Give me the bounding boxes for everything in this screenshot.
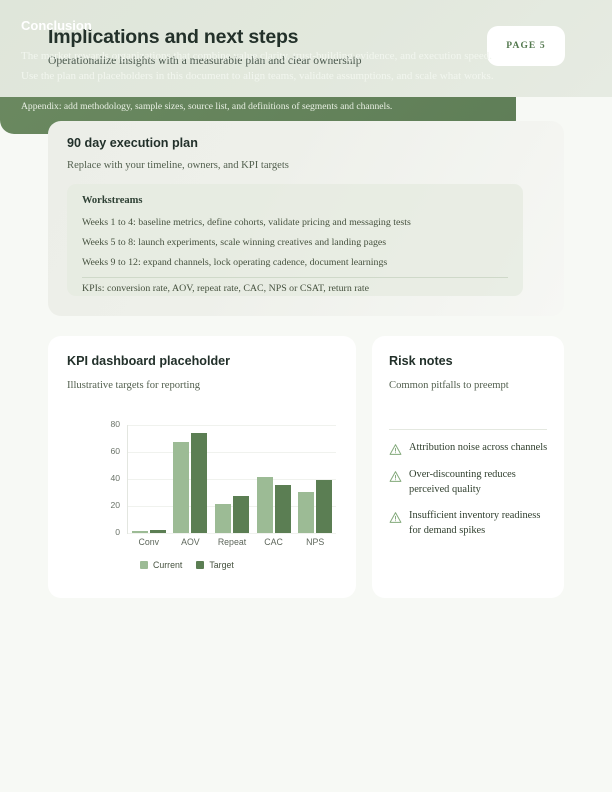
y-axis-tick-label: 60 — [80, 446, 120, 456]
y-axis-tick-label: 0 — [80, 527, 120, 537]
chart-bar — [173, 442, 189, 533]
risk-note-item: Insufficient inventory readiness for dem… — [389, 509, 551, 538]
warning-triangle-icon — [389, 443, 402, 456]
risk-notes-divider — [389, 429, 547, 430]
chart-gridline — [128, 533, 336, 534]
risk-note-text: Insufficient inventory readiness for dem… — [409, 509, 551, 538]
conclusion-title: Conclusion — [21, 18, 92, 33]
y-axis-tick-label: 20 — [80, 500, 120, 510]
chart-bar — [233, 496, 249, 533]
chart-legend: CurrentTarget — [140, 560, 234, 570]
y-axis-tick-label: 80 — [80, 419, 120, 429]
warning-triangle-icon — [389, 470, 402, 483]
chart-bar — [215, 504, 231, 533]
legend-swatch — [196, 561, 204, 569]
execution-plan-card: 90 day execution plan Replace with your … — [48, 121, 564, 316]
chart-gridline — [128, 452, 336, 453]
chart-bar — [275, 485, 291, 533]
y-axis-tick-label: 40 — [80, 473, 120, 483]
kpi-dashboard-title: KPI dashboard placeholder — [67, 354, 230, 368]
workstream-item: Weeks 1 to 4: baseline metrics, define c… — [82, 217, 411, 228]
risk-note-item: Attribution noise across channels — [389, 441, 551, 456]
kpi-bar-chart: 020406080ConvAOVRepeatCACNPS — [76, 418, 341, 548]
risk-note-text: Attribution noise across channels — [409, 441, 547, 456]
plot-area — [128, 425, 336, 533]
risk-notes-title: Risk notes — [389, 354, 453, 368]
chart-bar — [316, 480, 332, 533]
legend-label: Target — [209, 560, 233, 570]
workstreams-box: Workstreams Weeks 1 to 4: baseline metri… — [67, 184, 523, 296]
kpi-summary-line: KPIs: conversion rate, AOV, repeat rate,… — [82, 283, 369, 294]
chart-bar — [257, 477, 273, 533]
workstream-item: Weeks 9 to 12: expand channels, lock ope… — [82, 257, 387, 268]
risk-notes-card: Risk notes Common pitfalls to preempt At… — [372, 336, 564, 598]
chart-gridline — [128, 479, 336, 480]
workstreams-heading: Workstreams — [82, 195, 142, 206]
risk-note-item: Over-discounting reduces perceived quali… — [389, 468, 551, 497]
page-number-label: PAGE 5 — [506, 41, 545, 51]
chart-bar — [132, 531, 148, 533]
risk-notes-list: Attribution noise across channelsOver-di… — [389, 441, 551, 550]
warning-triangle-icon — [389, 511, 402, 524]
execution-plan-subtitle: Replace with your timeline, owners, and … — [67, 160, 289, 171]
kpi-dashboard-subtitle: Illustrative targets for reporting — [67, 380, 200, 391]
chart-gridline — [128, 425, 336, 426]
risk-notes-subtitle: Common pitfalls to preempt — [389, 380, 509, 391]
conclusion-body: The market rewards organizations that co… — [21, 47, 499, 86]
risk-note-text: Over-discounting reduces perceived quali… — [409, 468, 551, 497]
chart-bar — [191, 433, 207, 533]
legend-item: Target — [196, 560, 233, 570]
legend-item: Current — [140, 560, 182, 570]
legend-label: Current — [153, 560, 182, 570]
kpi-dashboard-card: KPI dashboard placeholder Illustrative t… — [48, 336, 356, 598]
x-axis-tick-label: NPS — [285, 537, 345, 547]
slide-page: Implications and next steps Operationali… — [0, 0, 612, 792]
conclusion-appendix: Appendix: add methodology, sample sizes,… — [21, 100, 511, 113]
legend-swatch — [140, 561, 148, 569]
workstream-item: Weeks 5 to 8: launch experiments, scale … — [82, 237, 386, 248]
chart-bar — [150, 530, 166, 533]
chart-bar — [298, 492, 314, 533]
workstreams-divider — [82, 277, 508, 278]
execution-plan-title: 90 day execution plan — [67, 136, 198, 150]
